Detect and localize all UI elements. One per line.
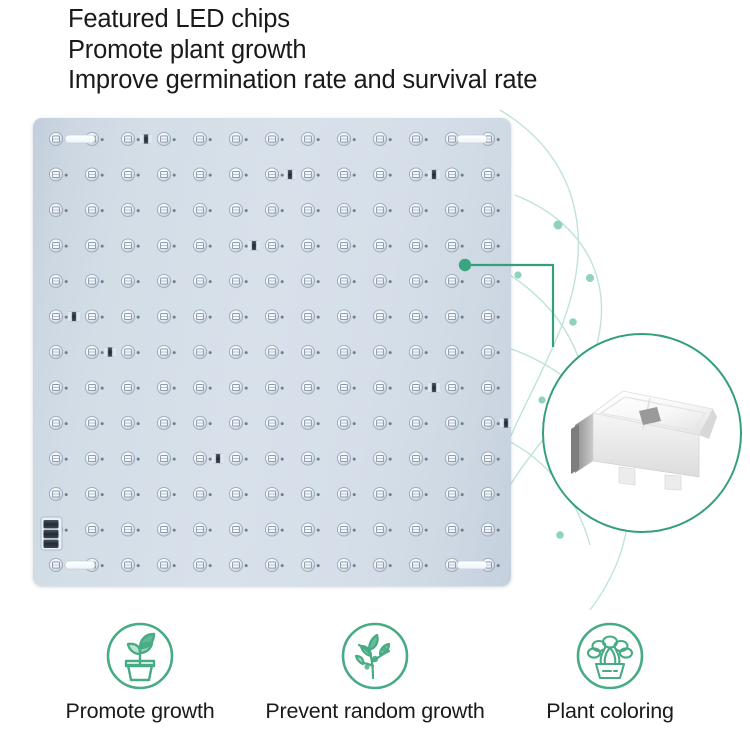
led-chip <box>409 203 427 216</box>
led-chip <box>481 381 499 394</box>
led-chip <box>409 274 427 287</box>
led-chip <box>301 345 319 358</box>
mounting-slot <box>457 561 487 569</box>
led-chip <box>301 239 319 252</box>
led-chip <box>481 239 499 252</box>
resistor-component <box>284 170 296 179</box>
led-chip <box>157 239 175 252</box>
led-chip <box>193 345 211 358</box>
led-chip <box>409 239 427 252</box>
led-chip <box>229 310 247 323</box>
led-chip <box>193 132 211 145</box>
led-chip <box>49 381 67 394</box>
feature-label: Promote growth <box>66 698 215 724</box>
led-chip <box>445 274 463 287</box>
led-grid <box>33 118 511 586</box>
led-chip <box>49 274 67 287</box>
led-chip <box>265 203 283 216</box>
mounting-slot <box>457 135 487 143</box>
led-chip <box>373 416 391 429</box>
led-chip <box>409 416 427 429</box>
led-chip <box>337 239 355 252</box>
power-connector <box>41 517 62 550</box>
led-chip <box>85 381 103 394</box>
mounting-slot <box>65 135 95 143</box>
led-chip <box>481 274 499 287</box>
led-chip <box>445 203 463 216</box>
led-chip <box>265 345 283 358</box>
led-chip <box>85 203 103 216</box>
led-chip <box>265 274 283 287</box>
led-chip <box>49 416 67 429</box>
led-chip <box>121 345 139 358</box>
led-chip <box>481 310 499 323</box>
led-chip <box>409 487 427 500</box>
led-chip <box>409 523 427 536</box>
led-chip <box>157 452 175 465</box>
led-chip <box>481 168 499 181</box>
led-chip <box>265 168 283 181</box>
led-chip <box>445 523 463 536</box>
led-chip <box>85 487 103 500</box>
led-chip <box>481 345 499 358</box>
led-chip <box>445 487 463 500</box>
led-chip <box>157 132 175 145</box>
led-chip <box>265 132 283 145</box>
led-chip <box>301 452 319 465</box>
led-chip <box>157 416 175 429</box>
led-chip <box>229 239 247 252</box>
headline-block: Featured LED chips Promote plant growth … <box>68 4 708 96</box>
led-chip <box>373 345 391 358</box>
led-chip <box>337 203 355 216</box>
resistor-component <box>140 134 152 143</box>
led-chip <box>337 558 355 571</box>
led-chip <box>301 310 319 323</box>
led-chip <box>157 558 175 571</box>
led-chip <box>229 203 247 216</box>
led-chip <box>337 345 355 358</box>
led-chip <box>229 345 247 358</box>
resistor-component <box>500 418 511 427</box>
led-chip <box>193 452 211 465</box>
led-chip <box>481 452 499 465</box>
led-chip <box>481 523 499 536</box>
led-chip <box>193 558 211 571</box>
led-chip <box>193 239 211 252</box>
led-chip <box>121 310 139 323</box>
led-chip <box>121 132 139 145</box>
feature-item-promote-growth: Promote growth <box>23 620 258 724</box>
feature-row: Promote growth Preven <box>0 620 750 750</box>
led-chip <box>121 452 139 465</box>
led-chip <box>229 381 247 394</box>
branching-sapling-icon <box>339 620 411 692</box>
led-chip <box>229 558 247 571</box>
led-chip <box>49 487 67 500</box>
led-chip <box>265 452 283 465</box>
led-chip <box>85 345 103 358</box>
led-chip <box>49 239 67 252</box>
led-chip <box>85 239 103 252</box>
led-chip <box>301 132 319 145</box>
led-chip <box>337 168 355 181</box>
led-chip <box>193 168 211 181</box>
led-chip <box>337 452 355 465</box>
led-chip <box>481 416 499 429</box>
headline-line-2: Promote plant growth <box>68 35 708 66</box>
led-chip <box>481 203 499 216</box>
resistor-component <box>68 312 80 321</box>
headline-line-3: Improve germination rate and survival ra… <box>68 65 708 96</box>
led-chip <box>445 239 463 252</box>
led-chip <box>229 274 247 287</box>
resistor-component <box>428 383 440 392</box>
led-chip <box>301 558 319 571</box>
led-chip <box>229 523 247 536</box>
led-chip <box>85 416 103 429</box>
led-chip <box>445 416 463 429</box>
led-chip <box>373 523 391 536</box>
led-chip <box>229 416 247 429</box>
led-panel <box>33 118 511 586</box>
led-chip <box>337 381 355 394</box>
led-chip <box>301 487 319 500</box>
led-chip <box>373 203 391 216</box>
resistor-component <box>104 347 116 356</box>
led-chip <box>121 487 139 500</box>
led-chip <box>373 558 391 571</box>
smd-led-package-icon <box>567 373 717 493</box>
led-chip <box>193 381 211 394</box>
led-chip <box>301 381 319 394</box>
led-chip <box>265 523 283 536</box>
led-chip <box>445 345 463 358</box>
led-chip <box>49 310 67 323</box>
led-chip <box>265 487 283 500</box>
led-chip <box>85 168 103 181</box>
led-chip <box>121 168 139 181</box>
feature-label: Plant coloring <box>546 698 673 724</box>
led-chip <box>85 310 103 323</box>
potted-plant-icon <box>104 620 176 692</box>
led-chip <box>337 274 355 287</box>
led-chip <box>409 558 427 571</box>
mounting-slot <box>65 561 95 569</box>
led-chip <box>265 239 283 252</box>
led-chip <box>337 487 355 500</box>
led-chip <box>121 203 139 216</box>
led-chip <box>409 310 427 323</box>
led-chip <box>157 381 175 394</box>
led-chip <box>157 203 175 216</box>
led-chip <box>373 487 391 500</box>
led-chip <box>121 416 139 429</box>
led-chip <box>193 487 211 500</box>
led-chip <box>157 274 175 287</box>
led-chip <box>409 132 427 145</box>
led-chip <box>121 274 139 287</box>
resistor-component <box>248 241 260 250</box>
headline-line-1: Featured LED chips <box>68 4 708 35</box>
led-chip <box>157 168 175 181</box>
led-chip <box>157 345 175 358</box>
led-chip <box>301 203 319 216</box>
led-chip <box>409 452 427 465</box>
led-chip <box>373 381 391 394</box>
product-marketing-image: Featured LED chips Promote plant growth … <box>0 0 750 750</box>
led-chip <box>301 523 319 536</box>
led-chip <box>121 239 139 252</box>
led-chip <box>229 452 247 465</box>
led-chip <box>337 310 355 323</box>
led-chip <box>265 310 283 323</box>
resistor-component <box>212 454 224 463</box>
led-chip <box>337 523 355 536</box>
feature-item-prevent-random-growth: Prevent random growth <box>258 620 493 724</box>
led-chip <box>445 381 463 394</box>
led-chip <box>157 487 175 500</box>
led-chip <box>121 558 139 571</box>
led-chip <box>337 132 355 145</box>
led-chip <box>85 523 103 536</box>
led-chip <box>49 168 67 181</box>
led-chip <box>337 416 355 429</box>
led-chip <box>85 274 103 287</box>
led-chip <box>409 381 427 394</box>
led-chip <box>121 381 139 394</box>
led-chip <box>193 523 211 536</box>
led-chip <box>229 487 247 500</box>
led-chip <box>265 381 283 394</box>
led-chip <box>49 452 67 465</box>
led-chip <box>193 416 211 429</box>
led-chip <box>409 345 427 358</box>
led-chip <box>193 203 211 216</box>
led-chip <box>85 452 103 465</box>
led-chip <box>445 168 463 181</box>
led-chip <box>121 523 139 536</box>
led-chip <box>445 452 463 465</box>
led-chip <box>265 558 283 571</box>
led-chip <box>49 345 67 358</box>
led-chip <box>445 310 463 323</box>
led-chip <box>409 168 427 181</box>
led-chip <box>229 168 247 181</box>
feature-label: Prevent random growth <box>265 698 484 724</box>
led-chip <box>301 416 319 429</box>
led-chip <box>301 168 319 181</box>
led-chip <box>373 168 391 181</box>
led-chip <box>193 310 211 323</box>
feature-item-plant-coloring: Plant coloring <box>493 620 728 724</box>
led-chip <box>373 452 391 465</box>
led-chip <box>373 274 391 287</box>
led-chip <box>157 310 175 323</box>
led-chip <box>373 310 391 323</box>
flowering-plant-pot-icon <box>574 620 646 692</box>
led-chip <box>193 274 211 287</box>
led-chip <box>301 274 319 287</box>
led-chip <box>265 416 283 429</box>
led-chip <box>373 132 391 145</box>
led-chip <box>229 132 247 145</box>
led-chip <box>373 239 391 252</box>
led-chip <box>481 487 499 500</box>
resistor-component <box>428 170 440 179</box>
led-chip-magnifier <box>542 333 742 533</box>
led-chip <box>157 523 175 536</box>
led-chip <box>49 203 67 216</box>
